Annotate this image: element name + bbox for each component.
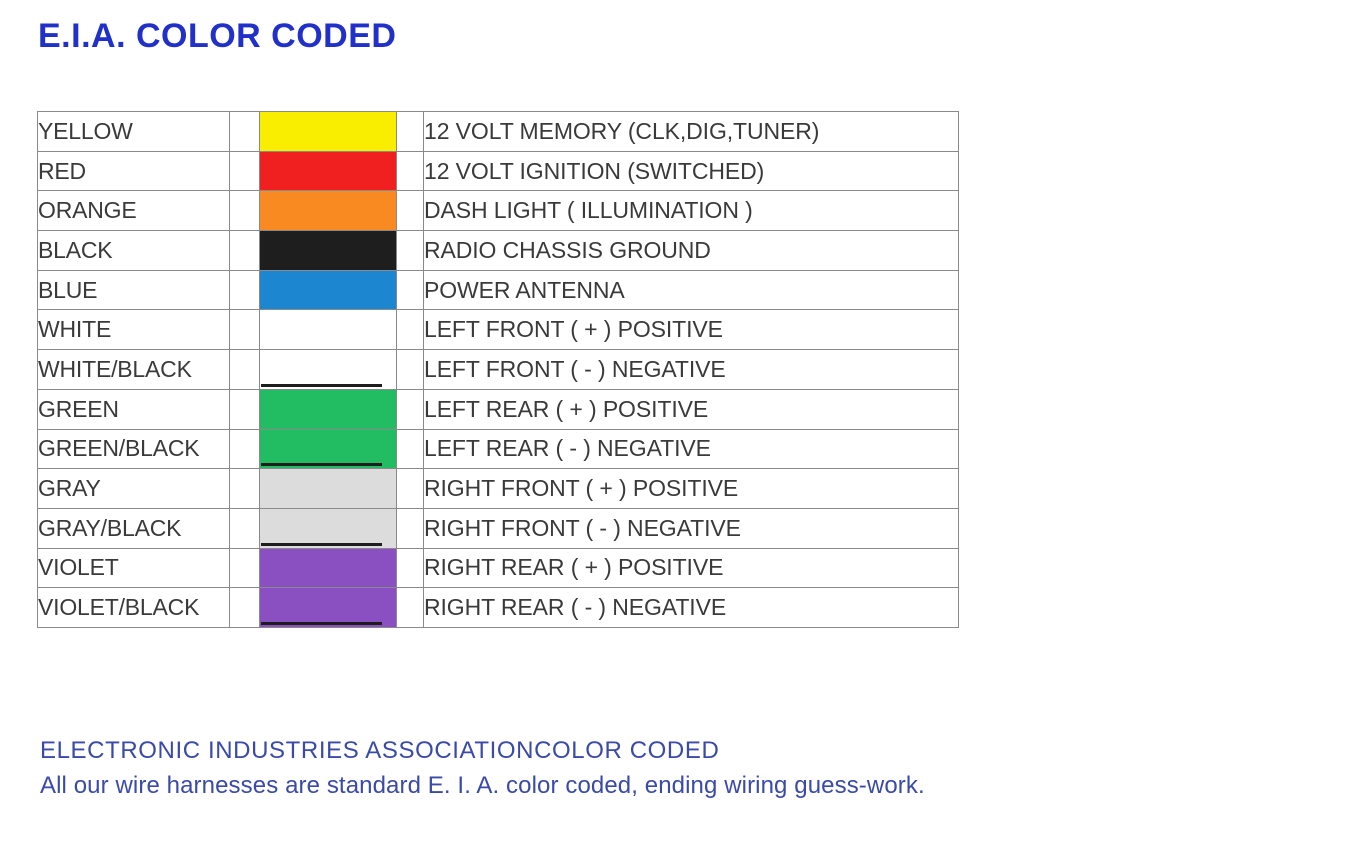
page-title: E.I.A. COLOR CODED xyxy=(38,17,396,56)
wire-color-swatch xyxy=(260,231,397,271)
swatch-fill xyxy=(260,549,396,588)
table-row: WHITELEFT FRONT ( + ) POSITIVE xyxy=(38,310,959,350)
wire-color-swatch xyxy=(260,310,397,350)
wire-color-name: GREEN xyxy=(38,389,230,429)
spacer-cell-left xyxy=(230,112,260,152)
table-row: BLUEPOWER ANTENNA xyxy=(38,270,959,310)
spacer-cell-right xyxy=(397,350,424,390)
wire-color-swatch xyxy=(260,270,397,310)
spacer-cell-right xyxy=(397,389,424,429)
table-row: GRAY/BLACKRIGHT FRONT ( - ) NEGATIVE xyxy=(38,508,959,548)
swatch-black-stripe xyxy=(261,543,382,546)
wire-function-description: 12 VOLT MEMORY (CLK,DIG,TUNER) xyxy=(424,112,959,152)
spacer-cell-left xyxy=(230,310,260,350)
wire-color-name: BLACK xyxy=(38,231,230,271)
spacer-cell-right xyxy=(397,151,424,191)
table-row: BLACKRADIO CHASSIS GROUND xyxy=(38,231,959,271)
swatch-black-stripe xyxy=(261,622,382,625)
spacer-cell-right xyxy=(397,508,424,548)
caption-line-2: All our wire harnesses are standard E. I… xyxy=(40,768,925,803)
table-row: GREEN/BLACKLEFT REAR ( - ) NEGATIVE xyxy=(38,429,959,469)
wire-color-swatch xyxy=(260,112,397,152)
caption-line-1: ELECTRONIC INDUSTRIES ASSOCIATIONCOLOR C… xyxy=(40,733,925,768)
caption-block: ELECTRONIC INDUSTRIES ASSOCIATIONCOLOR C… xyxy=(40,733,925,803)
spacer-cell-right xyxy=(397,270,424,310)
wire-color-swatch xyxy=(260,588,397,628)
spacer-cell-left xyxy=(230,231,260,271)
wire-color-table-body: YELLOW12 VOLT MEMORY (CLK,DIG,TUNER)RED1… xyxy=(38,112,959,628)
wire-color-swatch xyxy=(260,151,397,191)
table-row: VIOLET/BLACKRIGHT REAR ( - ) NEGATIVE xyxy=(38,588,959,628)
wire-function-description: LEFT FRONT ( - ) NEGATIVE xyxy=(424,350,959,390)
spacer-cell-right xyxy=(397,548,424,588)
table-row: YELLOW12 VOLT MEMORY (CLK,DIG,TUNER) xyxy=(38,112,959,152)
spacer-cell-left xyxy=(230,151,260,191)
wire-color-name: YELLOW xyxy=(38,112,230,152)
wire-color-name: WHITE/BLACK xyxy=(38,350,230,390)
spacer-cell-left xyxy=(230,389,260,429)
wire-color-name: VIOLET xyxy=(38,548,230,588)
wire-color-swatch xyxy=(260,350,397,390)
swatch-fill xyxy=(260,231,396,270)
spacer-cell-right xyxy=(397,310,424,350)
wire-color-swatch xyxy=(260,508,397,548)
table-row: WHITE/BLACKLEFT FRONT ( - ) NEGATIVE xyxy=(38,350,959,390)
wire-color-name: WHITE xyxy=(38,310,230,350)
wire-function-description: RADIO CHASSIS GROUND xyxy=(424,231,959,271)
wire-color-name: RED xyxy=(38,151,230,191)
wire-function-description: RIGHT FRONT ( + ) POSITIVE xyxy=(424,469,959,509)
spacer-cell-left xyxy=(230,191,260,231)
wire-function-description: RIGHT REAR ( - ) NEGATIVE xyxy=(424,588,959,628)
wire-function-description: LEFT REAR ( + ) POSITIVE xyxy=(424,389,959,429)
table-row: VIOLETRIGHT REAR ( + ) POSITIVE xyxy=(38,548,959,588)
spacer-cell-right xyxy=(397,469,424,509)
swatch-fill xyxy=(260,152,396,191)
table-row: GREENLEFT REAR ( + ) POSITIVE xyxy=(38,389,959,429)
wire-color-name: ORANGE xyxy=(38,191,230,231)
wire-color-name: VIOLET/BLACK xyxy=(38,588,230,628)
wire-function-description: RIGHT REAR ( + ) POSITIVE xyxy=(424,548,959,588)
table-row: ORANGEDASH LIGHT ( ILLUMINATION ) xyxy=(38,191,959,231)
wire-function-description: RIGHT FRONT ( - ) NEGATIVE xyxy=(424,508,959,548)
swatch-fill xyxy=(260,310,396,349)
swatch-black-stripe xyxy=(261,463,382,466)
swatch-fill xyxy=(260,469,396,508)
spacer-cell-right xyxy=(397,588,424,628)
wire-color-name: GREEN/BLACK xyxy=(38,429,230,469)
swatch-fill xyxy=(260,390,396,429)
spacer-cell-right xyxy=(397,191,424,231)
wire-color-name: GRAY xyxy=(38,469,230,509)
swatch-fill xyxy=(260,112,396,151)
wire-color-swatch xyxy=(260,429,397,469)
spacer-cell-left xyxy=(230,270,260,310)
wire-function-description: LEFT REAR ( - ) NEGATIVE xyxy=(424,429,959,469)
swatch-fill xyxy=(260,271,396,310)
swatch-fill xyxy=(260,191,396,230)
spacer-cell-left xyxy=(230,469,260,509)
spacer-cell-right xyxy=(397,429,424,469)
spacer-cell-left xyxy=(230,429,260,469)
table-row: RED12 VOLT IGNITION (SWITCHED) xyxy=(38,151,959,191)
wire-color-name: GRAY/BLACK xyxy=(38,508,230,548)
wire-function-description: LEFT FRONT ( + ) POSITIVE xyxy=(424,310,959,350)
wire-color-table: YELLOW12 VOLT MEMORY (CLK,DIG,TUNER)RED1… xyxy=(37,111,959,628)
wire-function-description: 12 VOLT IGNITION (SWITCHED) xyxy=(424,151,959,191)
spacer-cell-right xyxy=(397,231,424,271)
wire-function-description: POWER ANTENNA xyxy=(424,270,959,310)
wire-function-description: DASH LIGHT ( ILLUMINATION ) xyxy=(424,191,959,231)
wire-color-swatch xyxy=(260,548,397,588)
spacer-cell-left xyxy=(230,350,260,390)
wire-color-swatch xyxy=(260,191,397,231)
swatch-black-stripe xyxy=(261,384,382,387)
spacer-cell-left xyxy=(230,588,260,628)
wire-color-swatch xyxy=(260,469,397,509)
spacer-cell-right xyxy=(397,112,424,152)
wire-color-swatch xyxy=(260,389,397,429)
spacer-cell-left xyxy=(230,508,260,548)
table-row: GRAYRIGHT FRONT ( + ) POSITIVE xyxy=(38,469,959,509)
wire-color-name: BLUE xyxy=(38,270,230,310)
spacer-cell-left xyxy=(230,548,260,588)
